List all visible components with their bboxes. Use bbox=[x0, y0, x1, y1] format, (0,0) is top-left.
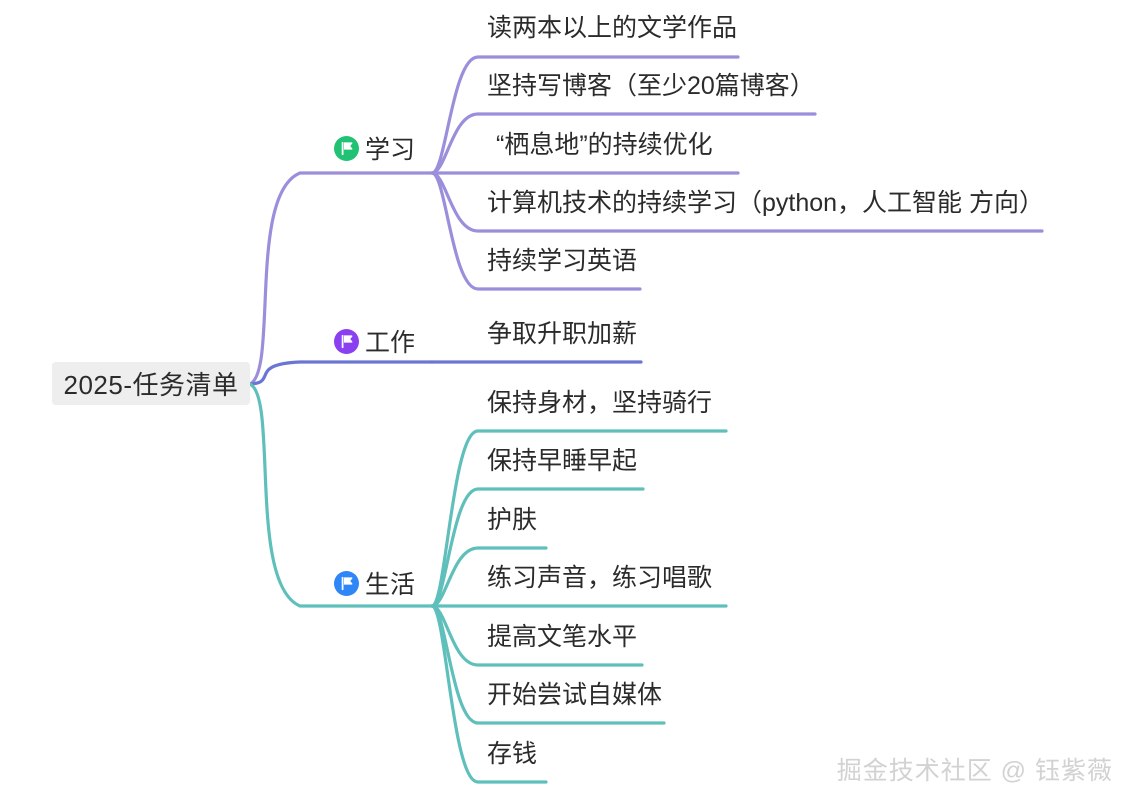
leaf-node[interactable]: 读两本以上的文学作品 bbox=[487, 16, 737, 41]
watermark: 掘金技术社区 @ 钰紫薇 bbox=[837, 751, 1113, 787]
leaf-node[interactable]: 开始尝试自媒体 bbox=[487, 683, 662, 708]
mindmap-canvas: 2025-任务清单 学习读两本以上的文学作品坚持写博客（至少20篇博客）“栖息地… bbox=[0, 0, 1135, 805]
leaf-node[interactable]: “栖息地”的持续优化 bbox=[496, 133, 713, 158]
mindmap-nodes-layer: 2025-任务清单 学习读两本以上的文学作品坚持写博客（至少20篇博客）“栖息地… bbox=[0, 0, 1135, 805]
flag-icon bbox=[334, 571, 359, 596]
branch-node-life[interactable]: 生活 bbox=[334, 565, 415, 601]
root-node[interactable]: 2025-任务清单 bbox=[52, 362, 250, 405]
branch-label-study: 学习 bbox=[365, 130, 415, 166]
leaf-node[interactable]: 持续学习英语 bbox=[487, 249, 637, 274]
leaf-node[interactable]: 争取升职加薪 bbox=[487, 322, 637, 347]
root-node-label: 2025-任务清单 bbox=[64, 365, 239, 402]
leaf-node[interactable]: 护肤 bbox=[487, 508, 537, 533]
leaf-node[interactable]: 计算机技术的持续学习（python，人工智能 方向） bbox=[487, 191, 1044, 216]
leaf-node[interactable]: 提高文笔水平 bbox=[487, 625, 637, 650]
leaf-node[interactable]: 存钱 bbox=[487, 742, 537, 767]
flag-icon bbox=[334, 329, 359, 354]
leaf-node[interactable]: 练习声音，练习唱歌 bbox=[487, 566, 712, 591]
leaf-node[interactable]: 保持身材，坚持骑行 bbox=[487, 391, 712, 416]
branch-label-life: 生活 bbox=[365, 565, 415, 601]
flag-icon bbox=[334, 136, 359, 161]
branch-node-study[interactable]: 学习 bbox=[334, 130, 415, 166]
leaf-node[interactable]: 保持早睡早起 bbox=[487, 449, 637, 474]
branch-node-work[interactable]: 工作 bbox=[334, 323, 415, 359]
leaf-node[interactable]: 坚持写博客（至少20篇博客） bbox=[487, 74, 815, 99]
branch-label-work: 工作 bbox=[365, 323, 415, 359]
